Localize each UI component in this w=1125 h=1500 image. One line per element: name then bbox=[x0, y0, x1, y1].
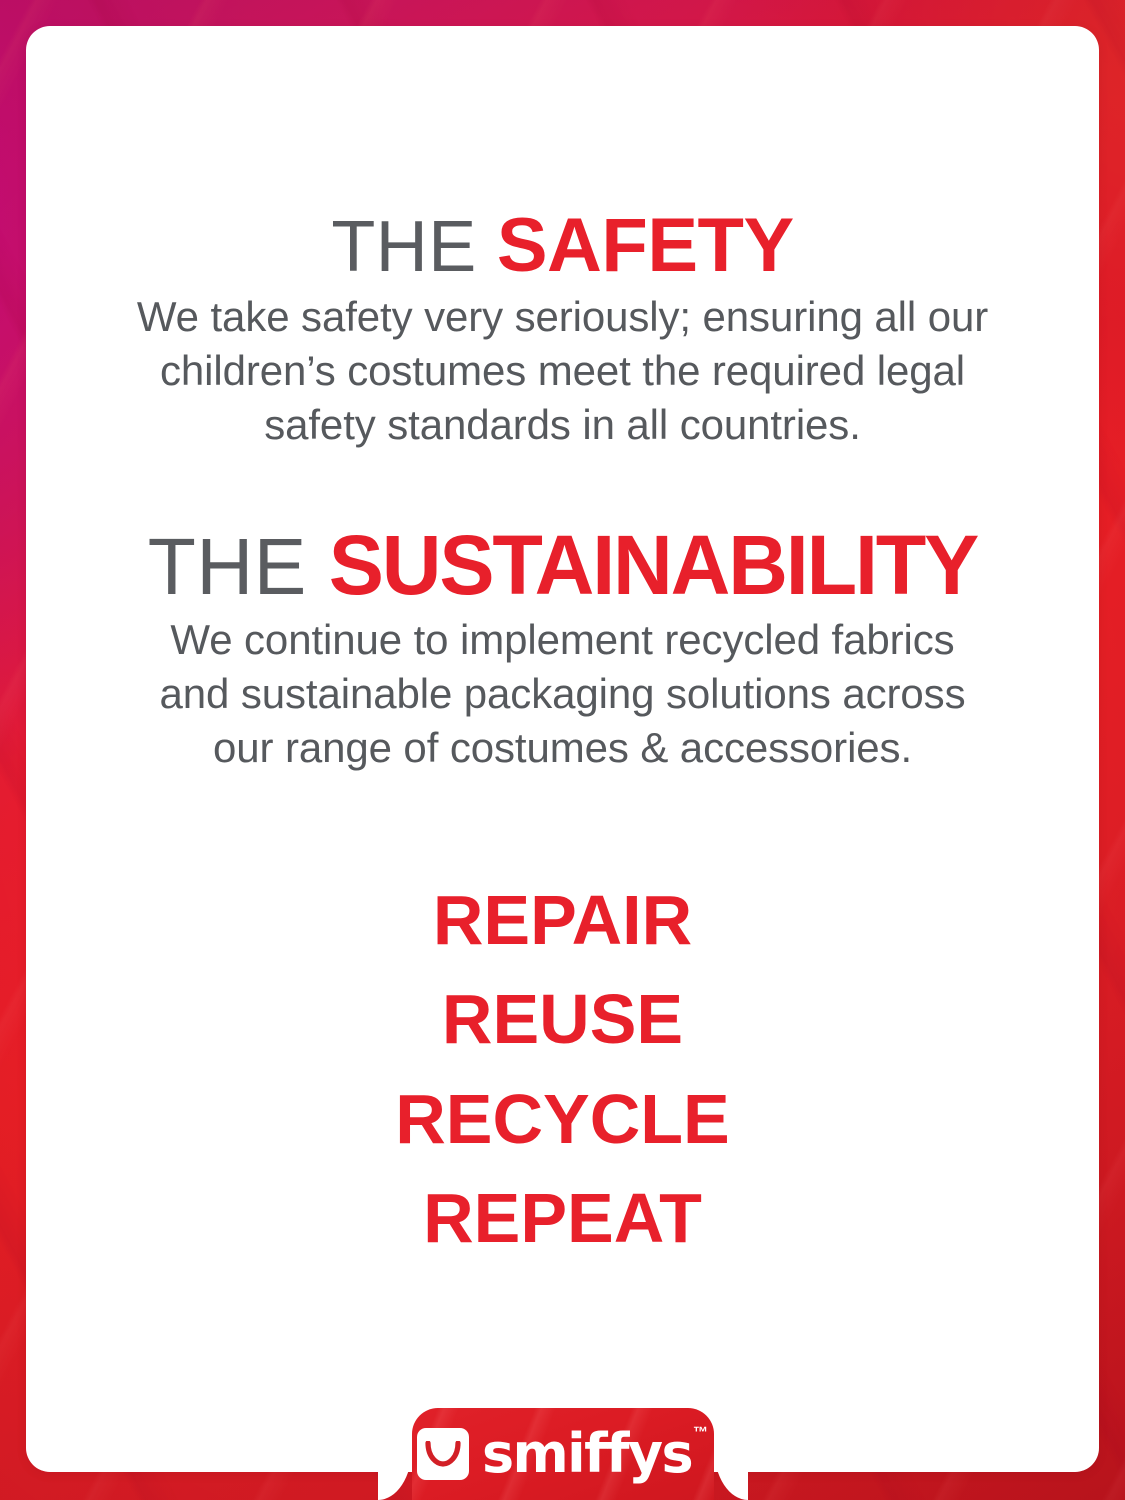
logo-tab-shoulder-right bbox=[714, 1448, 748, 1500]
poster-root: THE SAFETY We take safety very seriously… bbox=[0, 0, 1125, 1500]
safety-body-line-3: safety standards in all countries. bbox=[123, 398, 1003, 452]
sustainability-body-line-1: We continue to implement recycled fabric… bbox=[123, 613, 1003, 667]
card-content: THE SAFETY We take safety very seriously… bbox=[26, 26, 1099, 1269]
sustainability-heading-highlight: SUSTAINABILITY bbox=[329, 518, 977, 612]
logo-trademark-icon: ™ bbox=[693, 1424, 708, 1441]
logo-wordmark: smiffys bbox=[482, 1427, 692, 1481]
slogan-line-repair: REPAIR bbox=[68, 871, 1057, 970]
smiffys-logo[interactable]: smiffys ™ bbox=[412, 1408, 714, 1500]
safety-body-line-2: children’s costumes meet the required le… bbox=[123, 344, 1003, 398]
logo-tab-shoulder-left bbox=[378, 1448, 412, 1500]
sustainability-body: We continue to implement recycled fabric… bbox=[123, 613, 1003, 776]
safety-heading: THE SAFETY bbox=[68, 208, 1057, 284]
slogan-block: REPAIR REUSE RECYCLE REPEAT bbox=[68, 871, 1057, 1269]
sustainability-body-line-3: our range of costumes & accessories. bbox=[123, 721, 1003, 775]
sustainability-heading-prefix: THE bbox=[148, 522, 307, 611]
content-card: THE SAFETY We take safety very seriously… bbox=[26, 26, 1099, 1472]
slogan-line-recycle: RECYCLE bbox=[68, 1070, 1057, 1169]
smile-icon bbox=[417, 1428, 469, 1480]
section-sustainability: THE SUSTAINABILITY We continue to implem… bbox=[68, 523, 1057, 776]
sustainability-body-line-2: and sustainable packaging solutions acro… bbox=[123, 667, 1003, 721]
sustainability-heading: THE SUSTAINABILITY bbox=[75, 523, 1049, 607]
safety-body-line-1: We take safety very seriously; ensuring … bbox=[123, 290, 1003, 344]
slogan-line-repeat: REPEAT bbox=[68, 1169, 1057, 1268]
safety-heading-prefix: THE bbox=[331, 207, 477, 287]
section-safety: THE SAFETY We take safety very seriously… bbox=[68, 208, 1057, 453]
slogan-line-reuse: REUSE bbox=[68, 970, 1057, 1069]
safety-body: We take safety very seriously; ensuring … bbox=[123, 290, 1003, 453]
safety-heading-highlight: SAFETY bbox=[497, 203, 794, 288]
